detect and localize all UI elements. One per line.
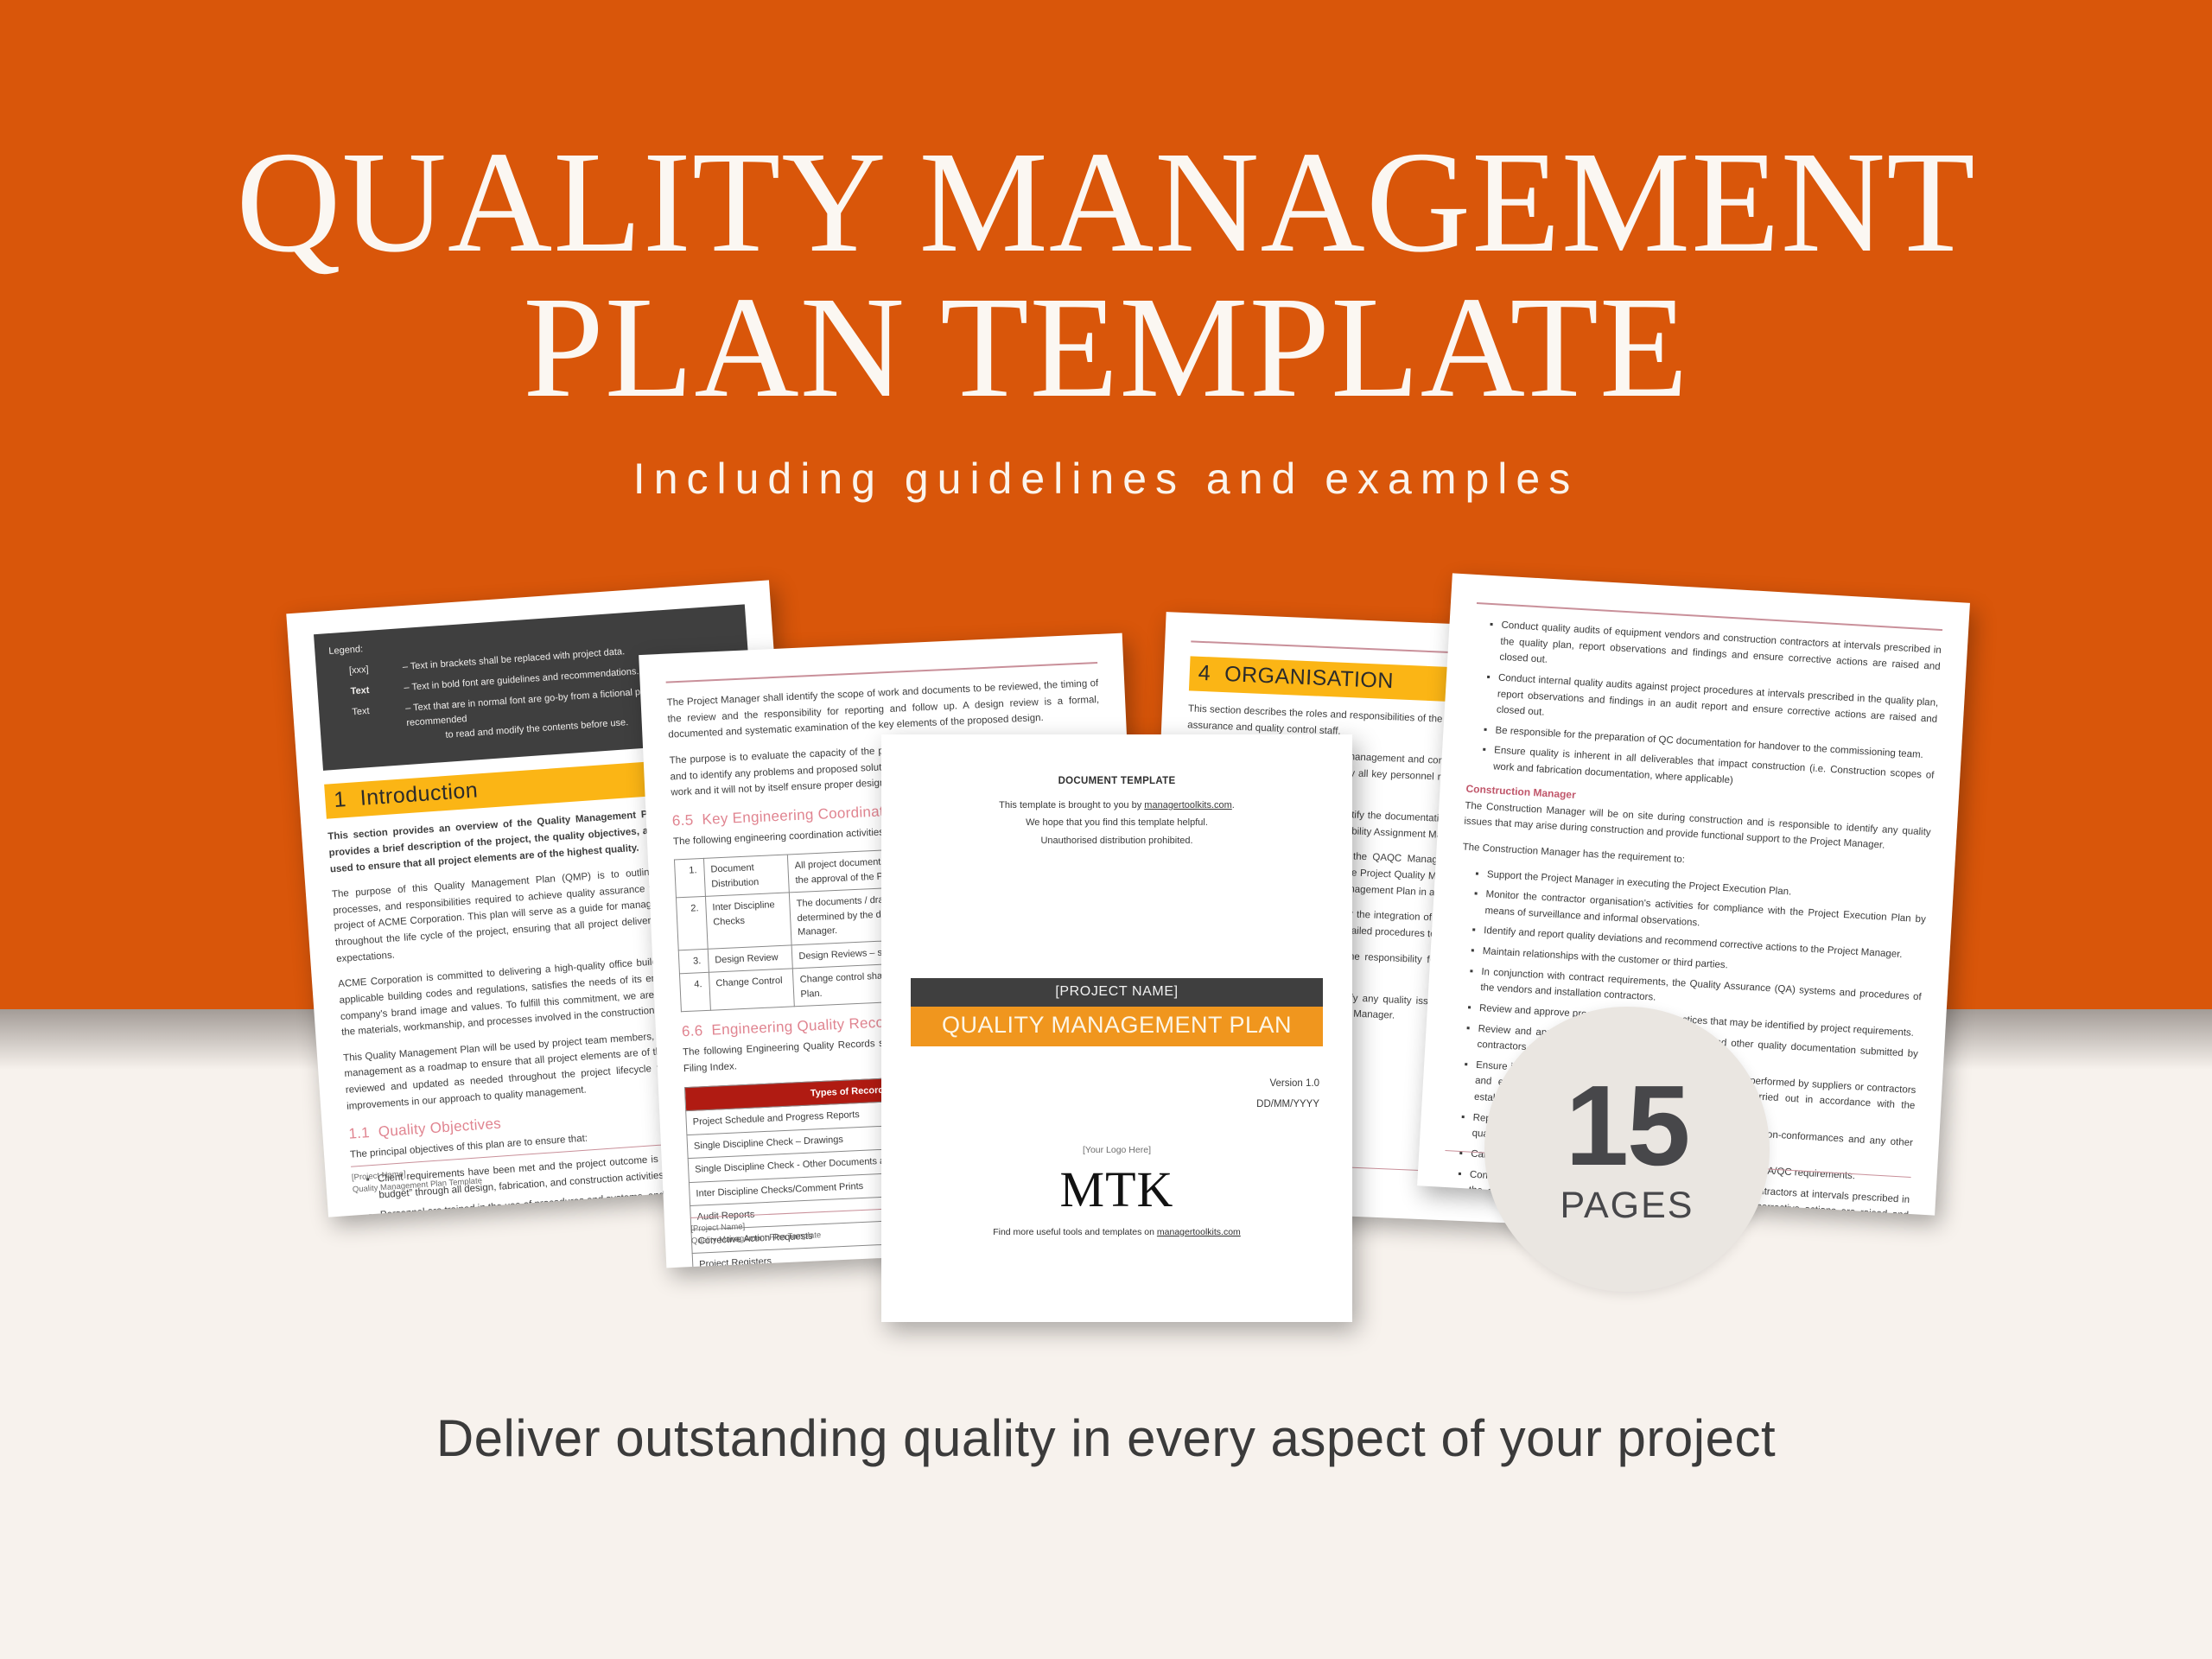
cover-blurb-line-2: We hope that you find this template help… bbox=[911, 814, 1323, 831]
blurb-text: This template is brought to you by bbox=[999, 800, 1144, 810]
page-count-number: 15 bbox=[1566, 1071, 1689, 1181]
managertoolkits-link[interactable]: managertoolkits.com bbox=[1144, 800, 1232, 810]
subheading-title: Quality Objectives bbox=[378, 1116, 501, 1141]
audit-bullet-list: Conduct quality audits of equipment vend… bbox=[1493, 618, 1942, 801]
cover-version: Version 1.0 bbox=[1256, 1073, 1319, 1094]
subheading-title: Engineering Quality Records bbox=[711, 1014, 906, 1039]
legend-key: Text bbox=[350, 681, 404, 699]
row-number: 4. bbox=[679, 973, 710, 1012]
cover-version-block: Version 1.0 DD/MM/YYYY bbox=[1256, 1073, 1319, 1115]
find-more-link[interactable]: managertoolkits.com bbox=[1157, 1227, 1241, 1237]
cover-title-block: [PROJECT NAME] QUALITY MANAGEMENT PLAN bbox=[911, 978, 1323, 1046]
cover-blurb: This template is brought to you by manag… bbox=[911, 797, 1323, 849]
heading-number: 4 bbox=[1198, 661, 1211, 686]
blurb-period: . bbox=[1232, 800, 1235, 810]
activity-name: Inter Discipline Checks bbox=[705, 893, 791, 949]
row-number: 1. bbox=[674, 859, 705, 898]
tagline: Deliver outstanding quality in every asp… bbox=[0, 1408, 2212, 1468]
subheading-number: 6.5 bbox=[671, 811, 693, 829]
document-template-label: DOCUMENT TEMPLATE bbox=[911, 776, 1323, 786]
heading-title: ORGANISATION bbox=[1224, 662, 1395, 693]
cover-project-name: [PROJECT NAME] bbox=[911, 978, 1323, 1007]
cover-document-title: QUALITY MANAGEMENT PLAN bbox=[911, 1007, 1323, 1046]
cover-blurb-line-1: This template is brought to you by manag… bbox=[911, 797, 1323, 814]
row-number: 3. bbox=[678, 949, 709, 974]
doc-page-cover[interactable]: DOCUMENT TEMPLATE This template is broug… bbox=[881, 734, 1352, 1322]
cover-logo-block: [Your Logo Here] MTK Find more useful to… bbox=[881, 1145, 1352, 1237]
row-number: 2. bbox=[676, 897, 708, 950]
legend-key: Text bbox=[352, 702, 408, 749]
cover-find-more: Find more useful tools and templates on … bbox=[881, 1227, 1352, 1237]
activity-name: Change Control bbox=[709, 969, 794, 1010]
find-more-text: Find more useful tools and templates on bbox=[993, 1227, 1157, 1237]
subheading-number: 6.6 bbox=[682, 1023, 703, 1040]
activity-name: Document Distribution bbox=[703, 855, 789, 896]
legend-key: [xxx] bbox=[348, 660, 403, 678]
heading-number: 1 bbox=[333, 787, 346, 812]
subheading-number: 1.1 bbox=[348, 1124, 371, 1142]
mtk-logo: MTK bbox=[881, 1159, 1352, 1222]
heading-title: Introduction bbox=[359, 779, 479, 810]
doc-paragraph: The Project Manager shall identify the s… bbox=[666, 676, 1100, 743]
page-count-label: PAGES bbox=[1560, 1185, 1694, 1227]
activity-name: Design Review bbox=[708, 945, 792, 973]
status-badge-page-count: 15 PAGES bbox=[1484, 1007, 1770, 1292]
logo-placeholder-label: [Your Logo Here] bbox=[881, 1145, 1352, 1155]
cover-date: DD/MM/YYYY bbox=[1256, 1094, 1319, 1115]
cover-blurb-line-3: Unauthorised distribution prohibited. bbox=[911, 832, 1323, 849]
